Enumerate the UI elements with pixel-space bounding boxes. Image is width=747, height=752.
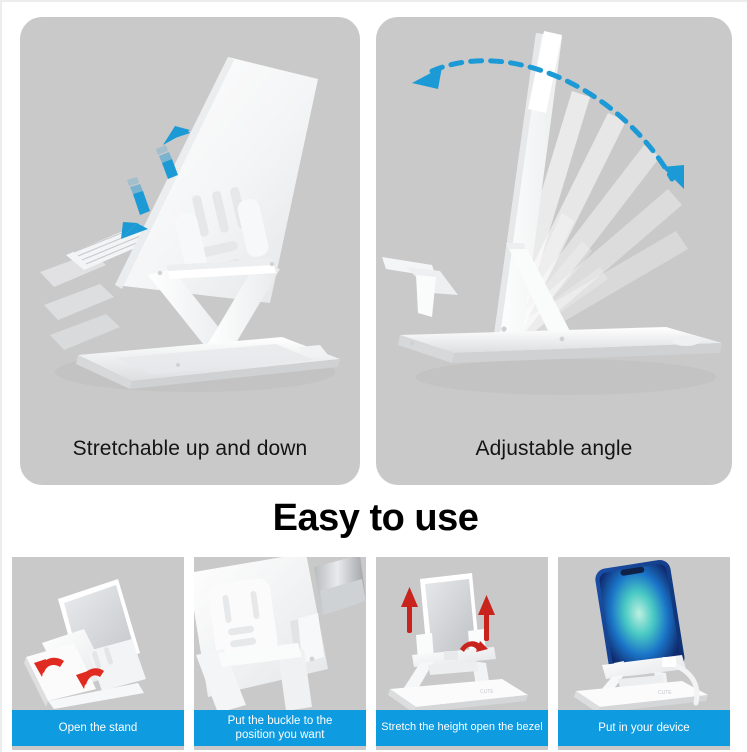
step-label-open-the-stand: Open the stand bbox=[12, 710, 184, 746]
step-card-stretch-the-height[interactable]: CUTE bbox=[376, 557, 548, 750]
step-label-put-in-your-device: Put in your device bbox=[558, 710, 730, 746]
step-label-line-1: Put the buckle to the bbox=[228, 715, 333, 727]
step-card-put-in-your-device[interactable]: CUTE Put in your device bbox=[558, 557, 730, 750]
step-label-stretch-the-height: Stretch the height open the bezel bbox=[376, 710, 548, 746]
step-thumbnail-buckle-closeup bbox=[194, 557, 366, 717]
step-label-line: Open the stand bbox=[59, 721, 138, 735]
step-label-line: Stretch the height open the bezel bbox=[381, 721, 542, 735]
steps-row: Open the stand bbox=[12, 557, 739, 752]
step-card-open-the-stand[interactable]: Open the stand bbox=[12, 557, 184, 750]
step-thumbnail-open-the-stand bbox=[12, 557, 184, 717]
feature-caption-adjustable: Adjustable angle bbox=[376, 437, 732, 461]
step-thumbnail-stretch-bezel: CUTE bbox=[376, 557, 548, 717]
step-label-line: Put in your device bbox=[598, 721, 689, 735]
stand-illustration-stretchable bbox=[20, 17, 360, 417]
step-label-text: Put the buckle to the position you want bbox=[228, 714, 333, 743]
feature-caption-stretchable: Stretchable up and down bbox=[20, 437, 360, 461]
section-heading-easy-to-use: Easy to use bbox=[2, 497, 747, 540]
step-label-line-2: position you want bbox=[236, 729, 325, 741]
step-label-put-the-buckle: Put the buckle to the position you want bbox=[194, 710, 366, 746]
product-infographic: Stretchable up and down bbox=[0, 0, 747, 752]
feature-panels-row: Stretchable up and down bbox=[2, 2, 747, 489]
feature-panel-adjustable: Adjustable angle bbox=[376, 17, 732, 485]
step-card-put-the-buckle[interactable]: Put the buckle to the position you want bbox=[194, 557, 366, 750]
svg-text:CUTE: CUTE bbox=[658, 690, 672, 696]
arrow-down-icon bbox=[121, 177, 150, 239]
stand-illustration-adjustable bbox=[376, 17, 732, 417]
svg-text:CUTE: CUTE bbox=[480, 689, 494, 695]
step-thumbnail-stand-with-phone: CUTE bbox=[558, 557, 730, 717]
feature-panel-stretchable: Stretchable up and down bbox=[20, 17, 360, 485]
